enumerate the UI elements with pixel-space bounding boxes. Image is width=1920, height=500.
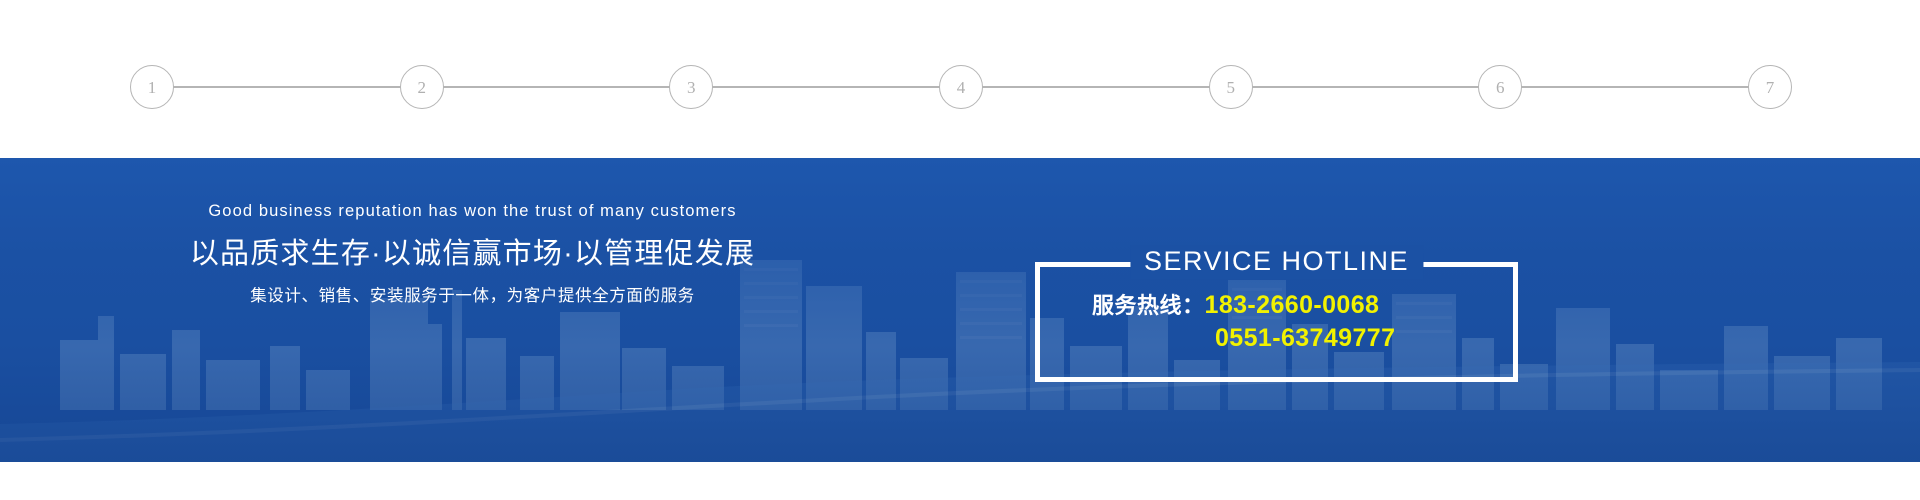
step-node-3[interactable]: 3 [669, 65, 713, 109]
hotline-phone-primary[interactable]: 183-2660-0068 [1205, 289, 1380, 322]
hotline-row-primary: 服务热线： 183-2660-0068 [1092, 289, 1513, 322]
step-node-4[interactable]: 4 [939, 65, 983, 109]
slogan-chinese-headline: 以品质求生存·以诚信赢市场·以管理促发展 [0, 236, 945, 272]
hotline-number-list: 服务热线： 183-2660-0068 0551-63749777 [1040, 289, 1513, 355]
step-label-5: 5 [1226, 79, 1235, 96]
step-node-6[interactable]: 6 [1478, 65, 1522, 109]
hotline-label: 服务热线： [1092, 291, 1205, 320]
step-node-5[interactable]: 5 [1209, 65, 1253, 109]
slogan-english-text: Good business reputation has won the tru… [0, 202, 945, 222]
page-root: 1 2 3 4 5 6 7 [0, 0, 1920, 500]
step-label-1: 1 [148, 79, 157, 96]
road-foreground-image [0, 362, 1920, 462]
step-label-3: 3 [687, 79, 696, 96]
promo-banner: Good business reputation has won the tru… [0, 158, 1920, 462]
hotline-phone-secondary[interactable]: 0551-63749777 [1215, 322, 1395, 355]
step-progress-bar: 1 2 3 4 5 6 7 [0, 0, 1920, 158]
service-hotline-box: SERVICE HOTLINE 服务热线： 183-2660-0068 0551… [1035, 262, 1518, 382]
hotline-row-secondary: 0551-63749777 [1092, 322, 1513, 355]
step-node-7[interactable]: 7 [1748, 65, 1792, 109]
step-node-1[interactable]: 1 [130, 65, 174, 109]
step-label-2: 2 [417, 79, 426, 96]
slogan-chinese-subtitle: 集设计、销售、安装服务于一体，为客户提供全方面的服务 [0, 286, 945, 307]
step-label-4: 4 [957, 79, 966, 96]
service-hotline-title: SERVICE HOTLINE [1130, 245, 1423, 279]
slogan-block: Good business reputation has won the tru… [0, 202, 1035, 307]
step-node-2[interactable]: 2 [400, 65, 444, 109]
step-label-6: 6 [1496, 79, 1505, 96]
step-label-7: 7 [1766, 79, 1775, 96]
